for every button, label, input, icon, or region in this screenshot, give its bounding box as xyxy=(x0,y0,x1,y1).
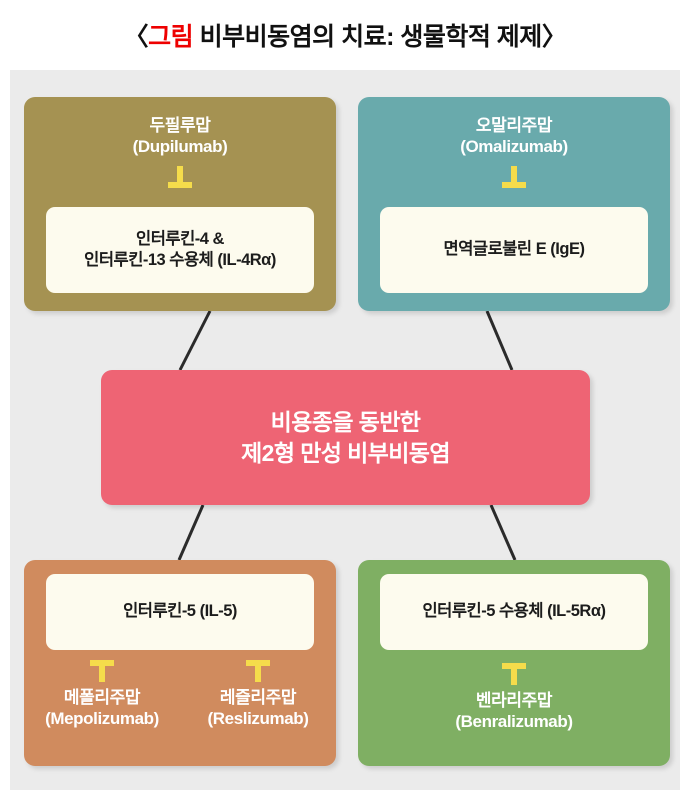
connector-topleft-to-center xyxy=(180,311,210,370)
inhibition-bar xyxy=(168,182,192,188)
drug-label-benralizumab: 벤라리주맙 (Benralizumab) xyxy=(455,691,572,733)
branch-card-dupilumab[interactable]: 두필루맙 (Dupilumab) 인터루킨-4 & 인터루킨-13 수용체 (I… xyxy=(24,97,336,311)
inhibition-stem xyxy=(255,665,261,682)
inhibition-symbol-icon xyxy=(502,166,526,188)
diagram-panel: 두필루맙 (Dupilumab) 인터루킨-4 & 인터루킨-13 수용체 (I… xyxy=(10,70,680,790)
inhibition-symbol-icon xyxy=(246,660,270,682)
page-title: 〈그림 비부비동염의 치료: 생물학적 제제〉 xyxy=(124,17,567,53)
inhibition-symbol-icon xyxy=(90,660,114,682)
drug-group-reslizumab[interactable]: 레즐리주맙 (Reslizumab) xyxy=(180,660,336,730)
title-rest: 비부비동염의 치료: 생물학적 제제 xyxy=(193,23,542,51)
diagram-stage: 두필루맙 (Dupilumab) 인터루킨-4 & 인터루킨-13 수용체 (I… xyxy=(10,70,680,790)
inhibition-symbol-icon xyxy=(168,166,192,188)
center-card-disease[interactable]: 비용종을 동반한 제2형 만성 비부비동염 xyxy=(101,370,590,505)
connector-center-to-bottomleft xyxy=(179,505,203,560)
disease-label: 비용종을 동반한 제2형 만성 비부비동염 xyxy=(241,407,450,468)
drug-row-il5: 메폴리주맙 (Mepolizumab) 레즐리주맙 (Reslizumab) xyxy=(24,660,336,730)
title-open-bracket: 〈 xyxy=(124,23,149,51)
inhibition-stem xyxy=(511,668,517,685)
inhibition-stem xyxy=(511,166,517,183)
drug-label-mepolizumab: 메폴리주맙 (Mepolizumab) xyxy=(45,688,159,730)
drug-label-dupilumab: 두필루맙 (Dupilumab) xyxy=(133,116,228,158)
connector-center-to-bottomright xyxy=(491,505,515,560)
target-label-il4r: 인터루킨-4 & 인터루킨-13 수용체 (IL-4Rα) xyxy=(46,207,314,293)
drug-label-reslizumab: 레즐리주맙 (Reslizumab) xyxy=(208,688,309,730)
page-title-bar: 〈그림 비부비동염의 치료: 생물학적 제제〉 xyxy=(0,0,690,70)
drug-group-mepolizumab[interactable]: 메폴리주맙 (Mepolizumab) xyxy=(24,660,180,730)
inhibition-bar xyxy=(502,182,526,188)
title-close-bracket: 〉 xyxy=(542,23,567,51)
target-label-il5: 인터루킨-5 (IL-5) xyxy=(46,574,314,650)
inhibition-stem xyxy=(99,665,105,682)
connector-topright-to-center xyxy=(487,311,512,370)
inhibition-symbol-icon xyxy=(502,663,526,685)
drug-label-omalizumab: 오말리주맙 (Omalizumab) xyxy=(460,116,568,158)
branch-card-il5r[interactable]: 인터루킨-5 수용체 (IL-5Rα) 벤라리주맙 (Benralizumab) xyxy=(358,560,670,766)
title-highlight-word: 그림 xyxy=(148,23,193,51)
branch-card-il5[interactable]: 인터루킨-5 (IL-5) 메폴리주맙 (Mepolizumab) 레즐리주맙 … xyxy=(24,560,336,766)
inhibition-stem xyxy=(177,166,183,183)
target-label-ige: 면역글로불린 E (IgE) xyxy=(380,207,648,293)
target-label-il5r: 인터루킨-5 수용체 (IL-5Rα) xyxy=(380,574,648,650)
branch-card-omalizumab[interactable]: 오말리주맙 (Omalizumab) 면역글로불린 E (IgE) xyxy=(358,97,670,311)
